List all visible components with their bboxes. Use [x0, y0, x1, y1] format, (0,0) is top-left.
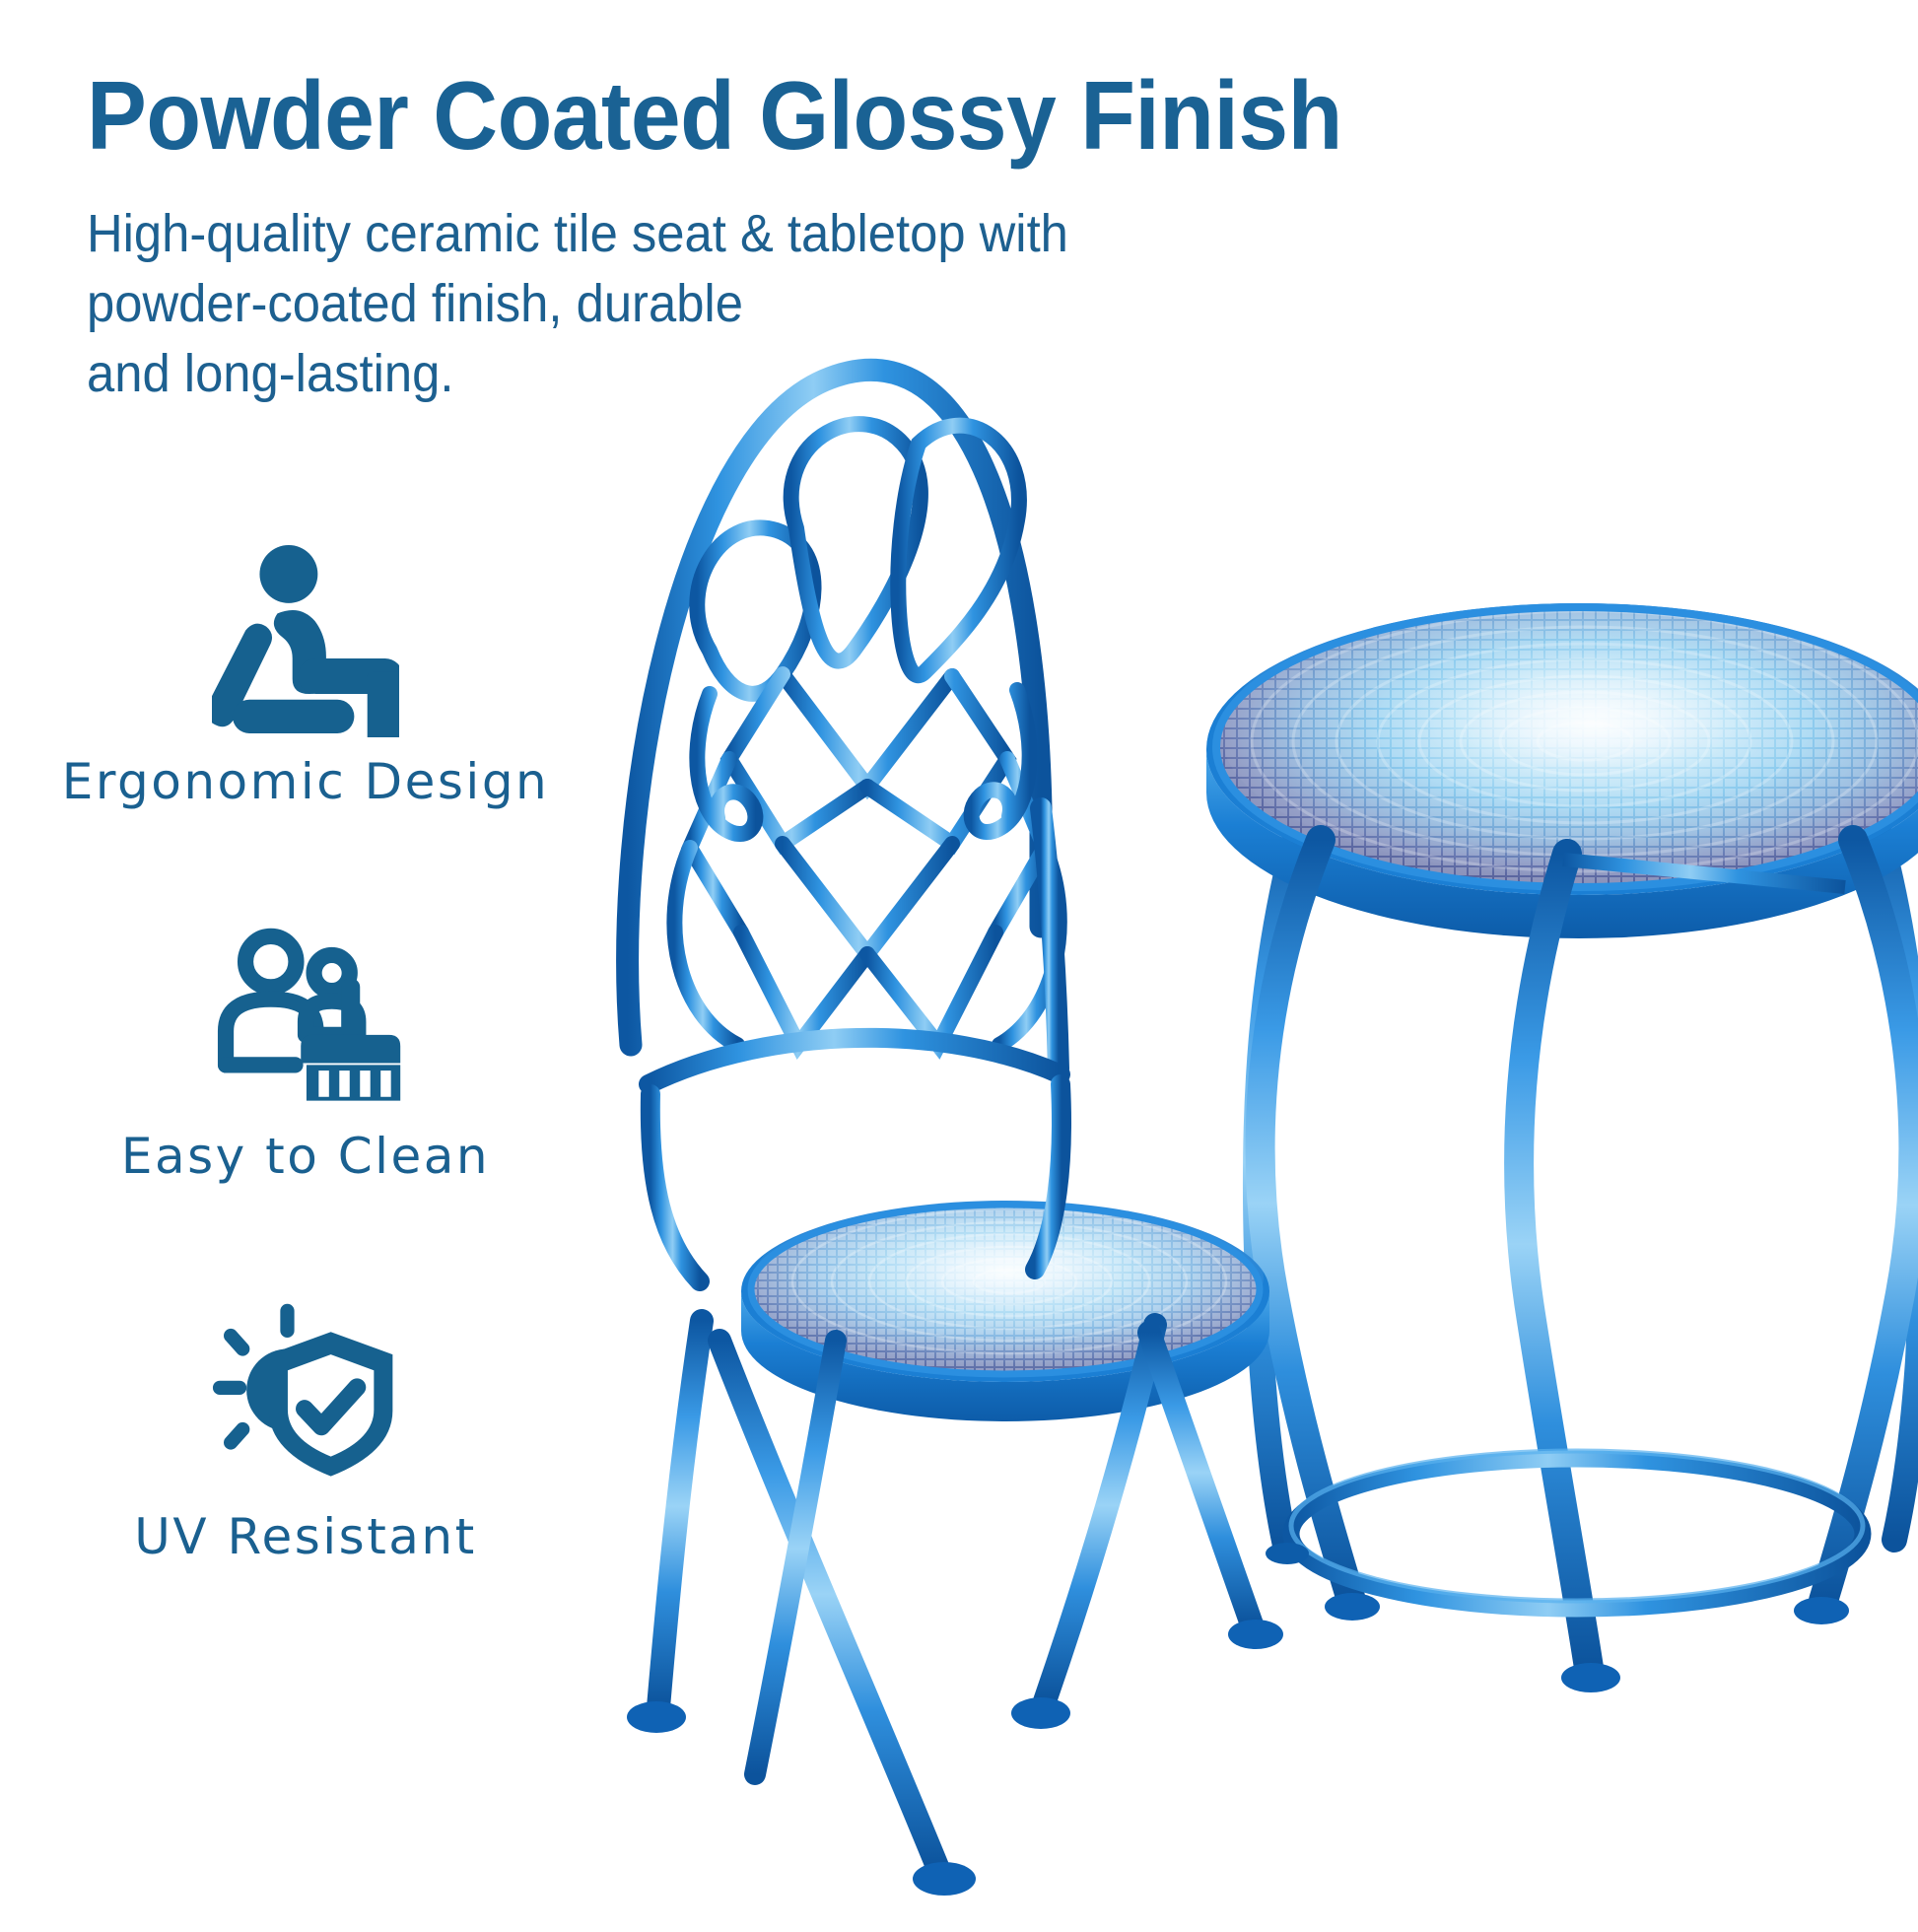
chair-foot-front-left — [627, 1701, 686, 1733]
infographic-canvas: Powder Coated Glossy Finish High-quality… — [0, 0, 1918, 1918]
feature-item-ergonomic-design: Ergonomic Design — [0, 540, 611, 865]
cleaning-brush-icon — [207, 915, 404, 1112]
sun-shield-check-icon — [207, 1295, 404, 1492]
chair-foot-rear-left — [913, 1862, 976, 1896]
feature-label-easy-to-clean: Easy to Clean — [121, 1128, 490, 1185]
round-mosaic-bistro-table — [1206, 595, 1918, 1692]
chair-back-post-right — [1041, 808, 1059, 1069]
folding-bistro-chair — [627, 370, 1283, 1896]
table-leg-front-center — [1519, 854, 1589, 1668]
table-foot-left — [1325, 1593, 1380, 1621]
table-foot-center — [1561, 1663, 1620, 1692]
table-foot-right — [1794, 1597, 1849, 1624]
table-foot-back-left — [1266, 1543, 1309, 1564]
chair-leg-inner — [755, 1341, 836, 1774]
feature-label-uv-resistant: UV Resistant — [134, 1508, 476, 1565]
chair-back-bottom-rail — [649, 1038, 1061, 1084]
product-photo — [572, 296, 1918, 1932]
subtitle-line-1: High-quality ceramic tile seat & tableto… — [87, 199, 1532, 269]
chair-foot-rear-right — [1228, 1620, 1283, 1649]
chair-leg-front-left — [658, 1321, 702, 1707]
feature-list: Ergonomic Design — [0, 540, 611, 1621]
page-title: Powder Coated Glossy Finish — [87, 67, 1517, 166]
feature-item-uv-resistant: UV Resistant — [0, 1295, 611, 1621]
chair-seat-bracket-left — [651, 1094, 700, 1281]
feature-item-easy-to-clean: Easy to Clean — [0, 915, 611, 1240]
chair-foot-front-right — [1011, 1697, 1070, 1729]
person-seated-icon — [212, 540, 399, 737]
feature-label-ergonomic-design: Ergonomic Design — [62, 753, 550, 810]
